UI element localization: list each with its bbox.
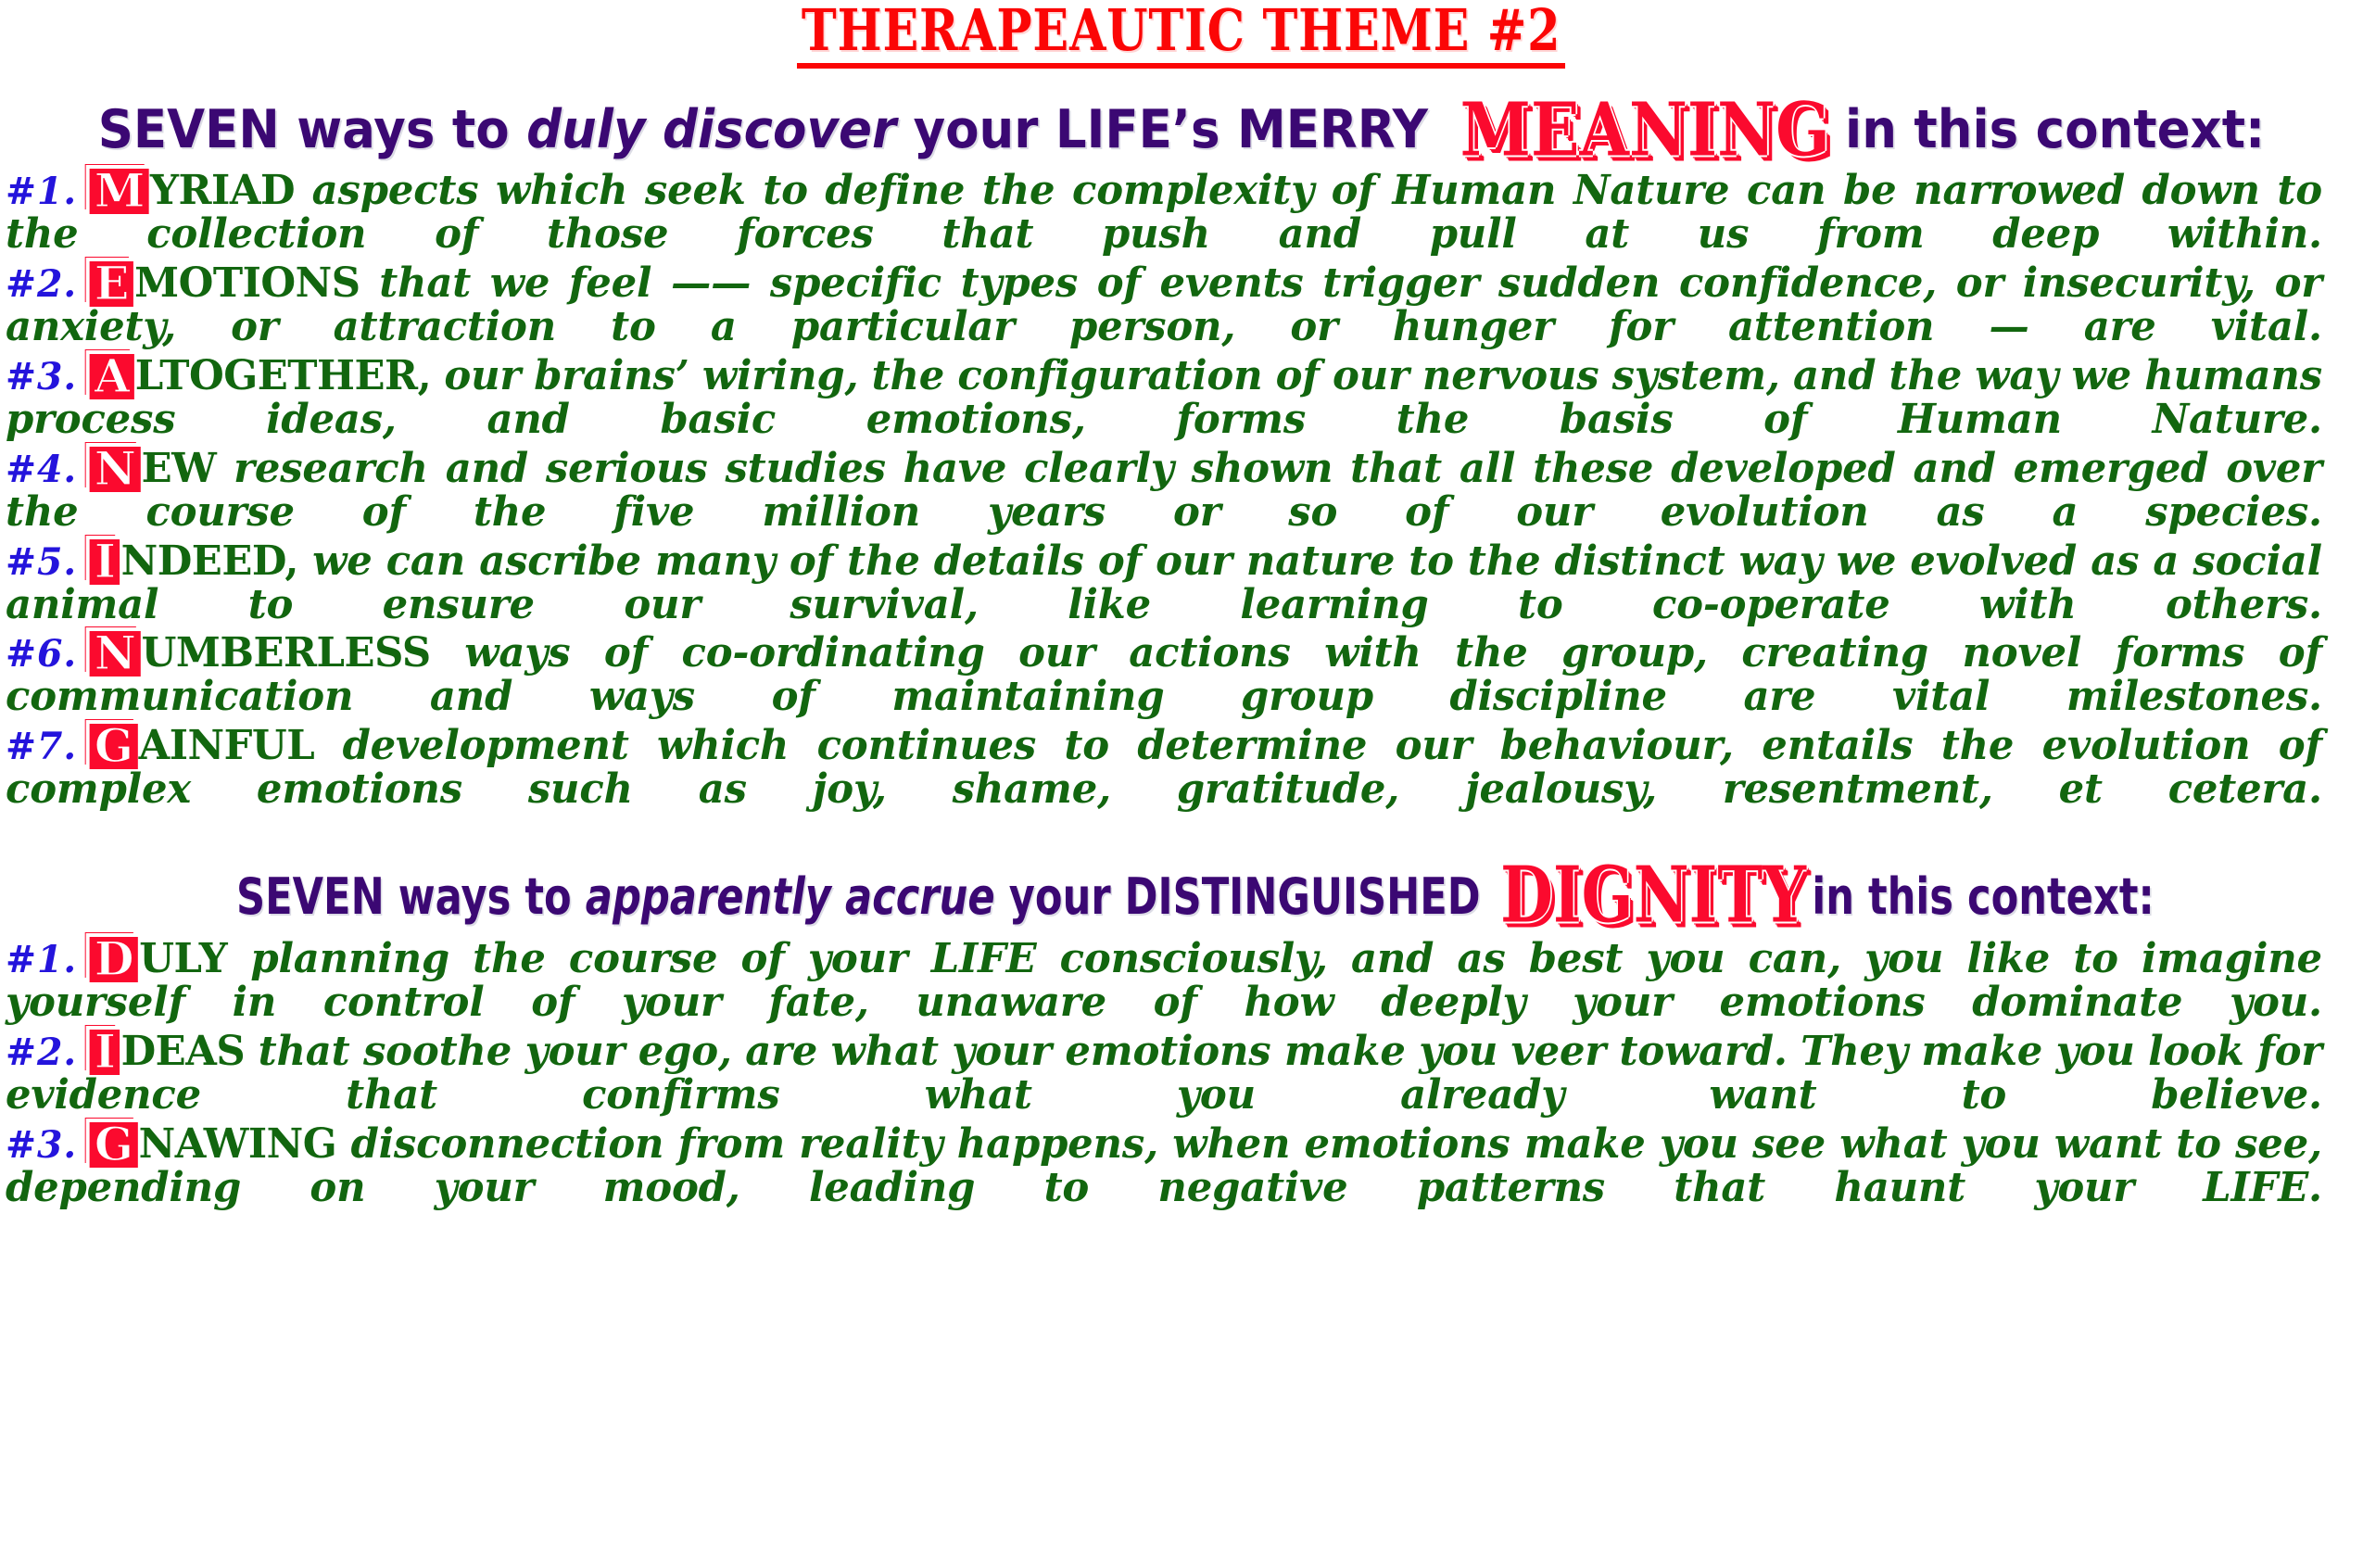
- dropcap-letter: I: [90, 539, 120, 585]
- heading-one-part3: in this context:: [1845, 99, 2265, 160]
- item-lead: EW: [142, 445, 217, 492]
- page-title: THERAPEAUTIC THEME #2: [797, 2, 1565, 69]
- section-two-items: #1.DULY planning the course of your LIFE…: [0, 937, 2363, 1209]
- list-item: #7.GAINFUL development which continues t…: [6, 724, 2322, 811]
- item-text: planning the course of your LIFE conscio…: [6, 935, 2322, 1026]
- dropcap-letter: I: [90, 1030, 120, 1075]
- dropcap-letter: N: [90, 447, 141, 492]
- item-text: disconnection from reality happens, when…: [6, 1120, 2322, 1211]
- item-lead: AINFUL: [139, 722, 315, 769]
- heading-two-part3: in this context:: [1812, 867, 2154, 926]
- section-one-items: #1.MYRIAD aspects which seek to define t…: [0, 169, 2363, 811]
- item-marker: #5.: [6, 540, 90, 584]
- heading-one-italic: duly discover: [526, 99, 896, 160]
- item-lead: LTOGETHER,: [135, 352, 431, 399]
- item-lead: UMBERLESS: [142, 629, 431, 677]
- heading-two-italic: apparently accrue: [586, 867, 995, 926]
- heading-two-part1: SEVEN ways to: [236, 867, 586, 926]
- item-marker: #6.: [6, 632, 90, 676]
- item-lead: YRIAD: [150, 167, 295, 214]
- item-marker: #1.: [6, 170, 90, 213]
- item-text: development which continues to determine…: [6, 722, 2322, 813]
- item-marker: #3.: [6, 1123, 90, 1167]
- dropcap-letter: E: [90, 261, 133, 307]
- list-item: #1.DULY planning the course of your LIFE…: [6, 937, 2322, 1024]
- dropcap-letter: N: [90, 631, 141, 677]
- dropcap-letter: G: [90, 724, 138, 769]
- section-two-heading: SEVEN ways to apparently accrue your DIS…: [236, 816, 2127, 937]
- item-lead: NAWING: [139, 1120, 337, 1168]
- list-item: #6.NUMBERLESS ways of co-ordinating our …: [6, 631, 2322, 718]
- display-word-dignity: DIGNITY: [1500, 856, 1806, 934]
- poster-page: THERAPEAUTIC THEME #2 SEVEN ways to duly…: [0, 0, 2363, 1568]
- item-marker: #2.: [6, 1031, 90, 1074]
- display-word-meaning: MEANING: [1460, 94, 1830, 168]
- list-item: #2.EMOTIONS that we feel —— specific typ…: [6, 261, 2322, 348]
- dropcap-letter: A: [90, 354, 134, 399]
- item-marker: #3.: [6, 355, 90, 398]
- heading-one-part2: your LIFE’s MERRY: [896, 99, 1445, 160]
- item-text: that soothe your ego, are what your emot…: [6, 1028, 2322, 1119]
- title-block: THERAPEAUTIC THEME #2: [0, 0, 2363, 69]
- item-marker: #7.: [6, 725, 90, 768]
- dropcap-letter: D: [90, 937, 138, 982]
- list-item: #5.INDEED, we can ascribe many of the de…: [6, 539, 2322, 626]
- item-marker: #1.: [6, 938, 90, 981]
- item-text: we can ascribe many of the details of ou…: [6, 537, 2322, 628]
- list-item: #2.IDEAS that soothe your ego, are what …: [6, 1030, 2322, 1117]
- item-marker: #4.: [6, 448, 90, 491]
- section-one-heading: SEVEN ways to duly discover your LIFE’s …: [82, 69, 2281, 169]
- list-item: #4.NEW research and serious studies have…: [6, 447, 2322, 534]
- item-marker: #2.: [6, 262, 90, 306]
- list-item: #3.ALTOGETHER, our brains’ wiring, the c…: [6, 354, 2322, 441]
- item-lead: NDEED,: [121, 537, 298, 585]
- dropcap-letter: M: [90, 169, 149, 214]
- heading-one-part1: SEVEN ways to: [98, 99, 526, 160]
- item-lead: DEAS: [121, 1028, 246, 1075]
- item-lead: ULY: [139, 935, 227, 982]
- dropcap-letter: G: [90, 1122, 138, 1168]
- list-item: #1.MYRIAD aspects which seek to define t…: [6, 169, 2322, 256]
- item-lead: MOTIONS: [134, 259, 360, 307]
- item-text: aspects which seek to define the complex…: [6, 167, 2322, 258]
- list-item: #3.GNAWING disconnection from reality ha…: [6, 1122, 2322, 1209]
- heading-two-part2: your DISTINGUISHED: [995, 867, 1495, 926]
- item-text: research and serious studies have clearl…: [6, 445, 2322, 536]
